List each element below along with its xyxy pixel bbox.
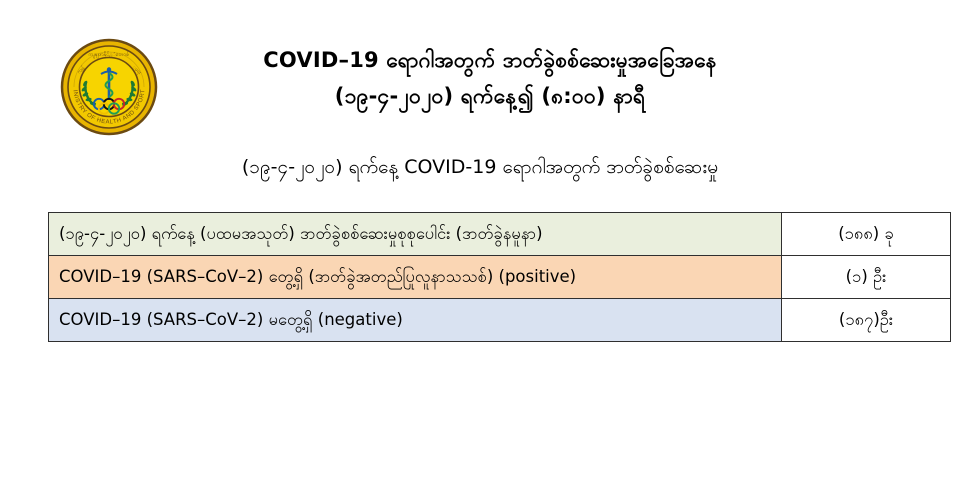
test-results-table: (၁၉-၄-၂၀၂၀) ရက်နေ့ (ပထမအသုတ်) ဒာတ်ခွဲစစ်… [48, 212, 951, 342]
title-line-1: COVID–19 ရောဂါအတွက် ဒာတ်ခွဲစစ်ဆေးမှုအခြေ… [170, 42, 810, 78]
report-subtitle: (၁၉-၄-၂၀၂၀) ရက်နေ့ COVID-19 ရောဂါအတွက် ဒ… [0, 152, 960, 182]
table-row-total-tests: (၁၉-၄-၂၀၂၀) ရက်နေ့ (ပထမအသုတ်) ဒာတ်ခွဲစစ်… [49, 213, 951, 256]
table-body: (၁၉-၄-၂၀၂၀) ရက်နေ့ (ပထမအသုတ်) ဒာတ်ခွဲစစ်… [49, 213, 951, 342]
page-title: COVID–19 ရောဂါအတွက် ဒာတ်ခွဲစစ်ဆေးမှုအခြေ… [170, 42, 810, 114]
positive-cases-value: (၁) ဦး [782, 256, 951, 299]
title-line-2: (၁၉-၄-၂၀၂၀) ရက်နေ့၍ (၈:၀၀) နာရီ [170, 78, 810, 114]
table-row-positive-cases: COVID–19 (SARS–CoV–2) တွေ့ရှိ (ဒာတ်ခွဲအတ… [49, 256, 951, 299]
positive-cases-label: COVID–19 (SARS–CoV–2) တွေ့ရှိ (ဒာတ်ခွဲအတ… [49, 256, 782, 299]
total-tests-label: (၁၉-၄-၂၀၂၀) ရက်နေ့ (ပထမအသုတ်) ဒာတ်ခွဲစစ်… [49, 213, 782, 256]
negative-cases-value: (၁၈၇)ဦး [782, 299, 951, 342]
total-tests-value: (၁၈၈) ခု [782, 213, 951, 256]
table-row-negative-cases: COVID–19 (SARS–CoV–2) မတွေ့ရှိ (negative… [49, 299, 951, 342]
test-results-table-container: (၁၉-၄-၂၀၂၀) ရက်နေ့ (ပထမအသုတ်) ဒာတ်ခွဲစစ်… [48, 212, 908, 342]
svg-text:ကျနျဖာနိုင်ྤံတောဇ်: ကျနျဖာနိုင်ྤံတောဇ် [89, 50, 131, 59]
page-header: ကျနျဖာနိုင်ྤံတောဇ် ကျန် ့ရေး [0, 0, 960, 140]
negative-cases-label: COVID–19 (SARS–CoV–2) မတွေ့ရှိ (negative… [49, 299, 782, 342]
ministry-of-health-and-sports-seal-icon: ကျနျဖာနိုင်ྤံတောဇ် ကျန် ့ရေး [60, 38, 158, 136]
